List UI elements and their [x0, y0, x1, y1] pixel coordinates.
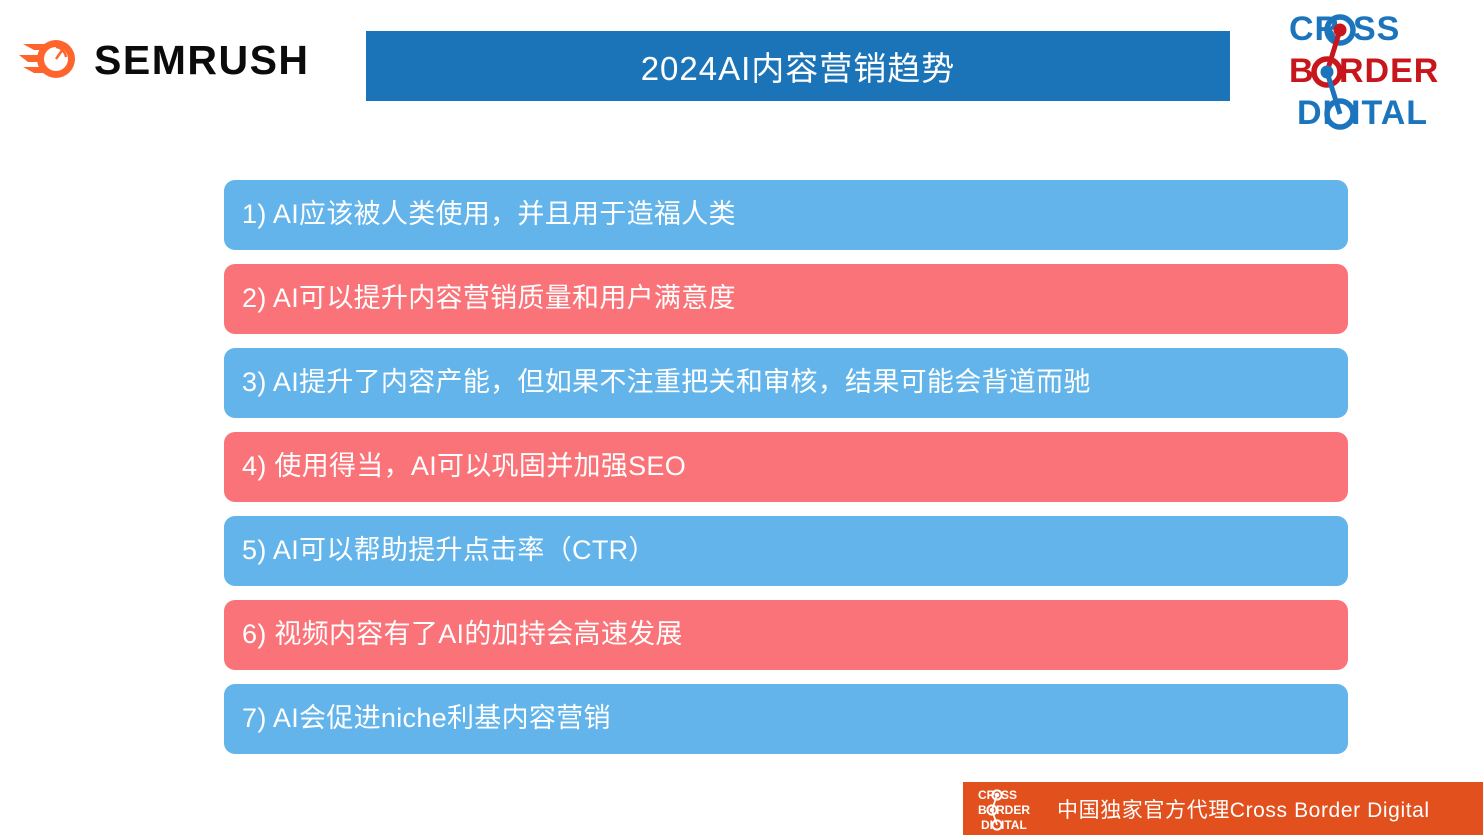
- semrush-wordmark: SEMRUSH: [94, 40, 310, 81]
- trend-item-label: 6) 视频内容有了AI的加持会高速发展: [242, 620, 683, 650]
- trend-item-label: 4) 使用得当，AI可以巩固并加强SEO: [242, 452, 686, 482]
- svg-text:ITAL: ITAL: [1001, 818, 1027, 831]
- trend-item-label: 5) AI可以帮助提升点击率（CTR）: [242, 536, 656, 566]
- semrush-logo: SEMRUSH: [18, 34, 310, 86]
- trend-item-label: 3) AI提升了内容产能，但如果不注重把关和审核，结果可能会背道而驰: [242, 368, 1091, 398]
- footer-agency-text: 中国独家官方代理Cross Border Digital: [1057, 794, 1430, 824]
- svg-text:SS: SS: [1353, 10, 1400, 48]
- trend-item-7: 7) AI会促进niche利基内容营销: [224, 684, 1348, 754]
- svg-text:B: B: [1289, 52, 1315, 90]
- svg-text:ITAL: ITAL: [1351, 94, 1428, 132]
- svg-text:RDER: RDER: [1339, 52, 1439, 90]
- slide-header: SEMRUSH 2024AI内容营销趋势 CR SS B RDER DI ITA…: [0, 0, 1483, 140]
- page-title: 2024AI内容营销趋势: [641, 42, 956, 90]
- svg-text:SS: SS: [1001, 788, 1017, 802]
- trend-item-4: 4) 使用得当，AI可以巩固并加强SEO: [224, 432, 1348, 502]
- svg-text:RDER: RDER: [996, 803, 1030, 817]
- svg-text:DI: DI: [981, 818, 993, 831]
- footer-bar: CR SS B RDER DI ITAL 中国独家官方代理Cross Borde…: [963, 782, 1483, 835]
- cross-border-digital-logo: CR SS B RDER DI ITAL: [1283, 8, 1468, 133]
- trend-list: 1) AI应该被人类使用，并且用于造福人类 2) AI可以提升内容营销质量和用户…: [224, 180, 1348, 754]
- trend-item-label: 2) AI可以提升内容营销质量和用户满意度: [242, 284, 736, 314]
- trend-item-label: 1) AI应该被人类使用，并且用于造福人类: [242, 200, 736, 230]
- trend-item-5: 5) AI可以帮助提升点击率（CTR）: [224, 516, 1348, 586]
- footer-cross-border-digital-logo: CR SS B RDER DI ITAL: [977, 787, 1041, 831]
- trend-item-1: 1) AI应该被人类使用，并且用于造福人类: [224, 180, 1348, 250]
- semrush-comet-icon: [18, 34, 80, 86]
- trend-item-3: 3) AI提升了内容产能，但如果不注重把关和审核，结果可能会背道而驰: [224, 348, 1348, 418]
- trend-item-label: 7) AI会促进niche利基内容营销: [242, 704, 611, 734]
- title-banner: 2024AI内容营销趋势: [366, 31, 1230, 101]
- trend-item-6: 6) 视频内容有了AI的加持会高速发展: [224, 600, 1348, 670]
- svg-text:B: B: [978, 803, 987, 817]
- trend-item-2: 2) AI可以提升内容营销质量和用户满意度: [224, 264, 1348, 334]
